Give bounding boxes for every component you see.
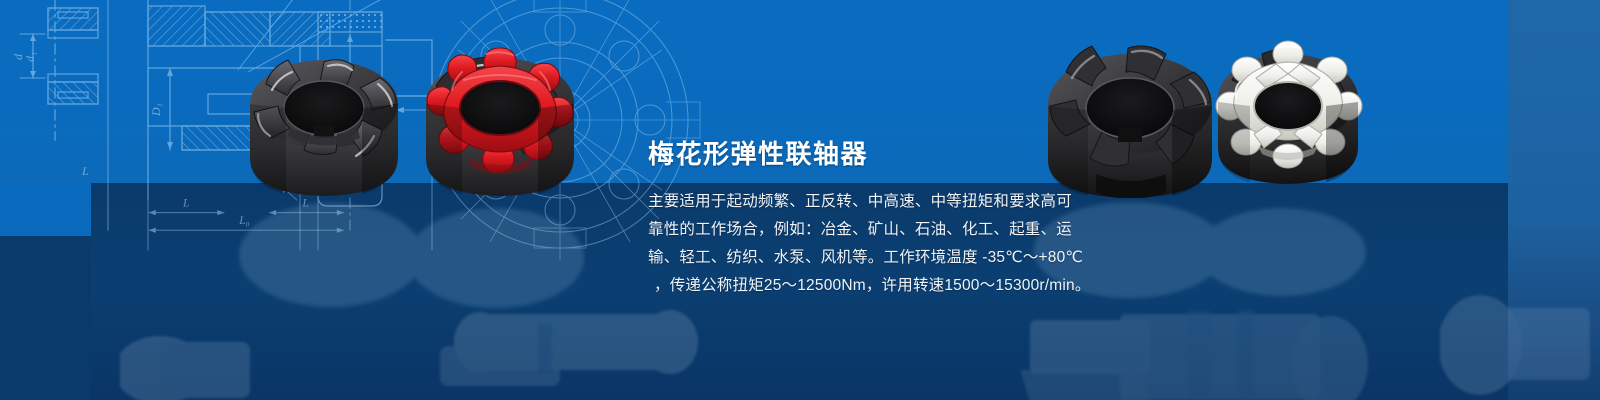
banner-text-block: 梅花形弹性联轴器 主要适用于起动频繁、正反转、中高速、中等扭矩和要求高可 靠性的… — [648, 138, 1068, 300]
product-banner: d d₁ D D₁ L L — [0, 0, 1600, 400]
background-right-light-column — [1508, 0, 1600, 400]
product-description: 主要适用于起动频繁、正反转、中高速、中等扭矩和要求高可 靠性的工作场合，例如：冶… — [648, 188, 1068, 300]
background-dark-left-notch — [0, 236, 91, 400]
description-line-1: 主要适用于起动频繁、正反转、中高速、中等扭矩和要求高可 — [648, 188, 1068, 216]
description-line-4: ，传递公称扭矩25～12500Nm，许用转速1500～15300r/min。 — [648, 272, 1068, 300]
description-line-3: 输、轻工、纺织、水泵、风机等。工作环境温度 -35℃～+80℃ — [648, 244, 1068, 272]
page-title: 梅花形弹性联轴器 — [648, 138, 1068, 170]
description-line-2: 靠性的工作场合，例如：冶金、矿山、石油、化工、起重、运 — [648, 216, 1068, 244]
background-bright-step — [0, 183, 91, 236]
